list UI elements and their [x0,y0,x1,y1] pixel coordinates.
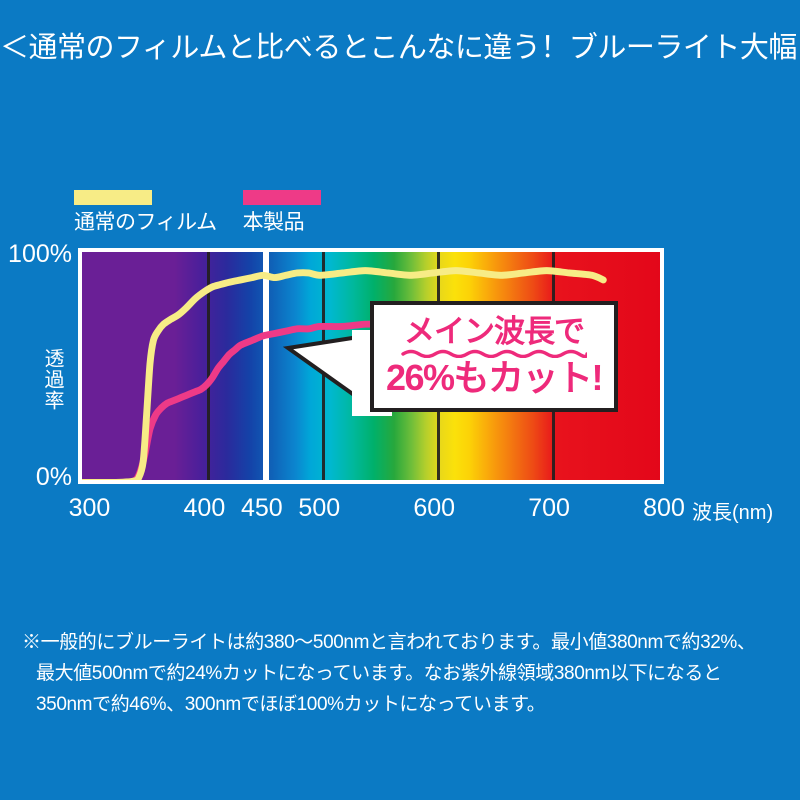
footnote-line-2: 最大値500nmで約24%カットになっています。なお紫外線領域380nm以下にな… [22,659,782,690]
x-tick-label-300: 300 [54,494,124,523]
chart-legend: 通常のフィルム 本製品 [74,190,321,236]
legend-item-this-product: 本製品 [243,190,321,236]
footnote-line-1: ※一般的にブルーライトは約380～500nmと言われております。最小値380nm… [22,628,782,659]
footnote: ※一般的にブルーライトは約380～500nmと言われております。最小値380nm… [22,628,782,720]
callout-line-1: メイン波長で [404,316,584,349]
y-tick-label-100: 100% [0,240,72,269]
y-axis-label: 透過率 [42,348,62,411]
footnote-line-3: 350nmで約46%、300nmでほぼ100%カットになっています。 [22,690,782,721]
x-tick-label-700: 700 [514,494,584,523]
y-tick-label-0: 0% [0,463,72,492]
legend-swatch-this-product [243,190,321,205]
x-tick-label-500: 500 [284,494,354,523]
legend-label-this-product: 本製品 [243,206,305,236]
legend-swatch-normal-film [74,190,152,205]
legend-label-normal-film: 通常のフィルム [74,206,217,236]
page-title: ＜通常のフィルムと比べるとこんなに違う！ブルーライト大幅カット！＞ [0,24,800,66]
x-tick-label-600: 600 [399,494,469,523]
legend-item-normal-film: 通常のフィルム [74,190,217,236]
infographic-page: ＜通常のフィルムと比べるとこんなに違う！ブルーライト大幅カット！＞ 通常のフィル… [0,0,800,800]
x-axis-label: 波長(nm) [692,496,773,525]
callout-line-2: 26%もカット! [386,359,602,397]
callout-box: メイン波長で 26%もカット! [370,301,618,412]
x-tick-label-800: 800 [629,494,699,523]
